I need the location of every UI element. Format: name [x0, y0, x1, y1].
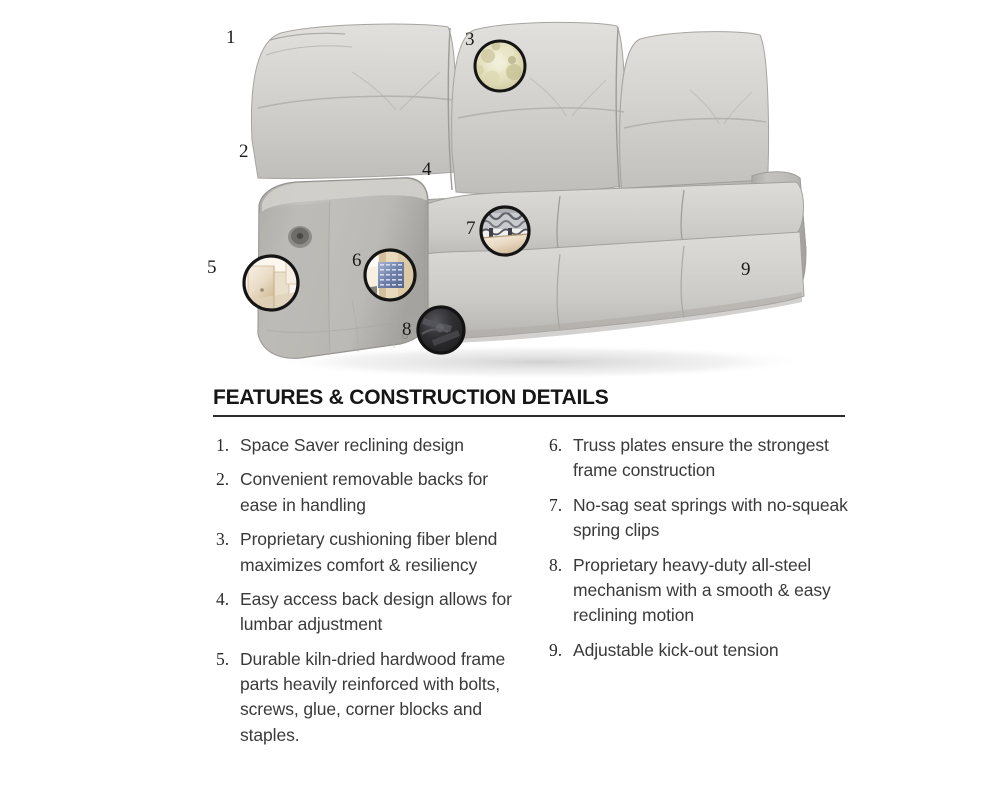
callout-inset-seat-springs [481, 207, 531, 255]
feature-item-5: 5. Durable kiln-dried hardwood frame par… [213, 647, 520, 749]
callout-inset-truss-plate [365, 250, 415, 300]
feature-text: Adjustable kick-out tension [573, 638, 778, 663]
callout-label-2: 2 [239, 142, 249, 161]
feature-text: Space Saver reclining design [240, 433, 464, 458]
callout-label-6: 6 [352, 251, 362, 270]
feature-column-right: 6. Truss plates ensure the strongest fra… [546, 433, 849, 757]
feature-number: 2. [213, 467, 240, 492]
feature-number: 9. [546, 638, 573, 663]
feature-number: 8. [546, 553, 573, 578]
feature-text: No-sag seat springs with no-squeak sprin… [573, 493, 849, 544]
feature-columns: 1. Space Saver reclining design 2. Conve… [213, 433, 853, 757]
callout-label-4: 4 [422, 160, 432, 179]
callout-inset-steel-mechanism [418, 307, 464, 353]
feature-text: Proprietary heavy-duty all-steel mechani… [573, 553, 849, 629]
product-feature-sheet: 1 2 3 4 5 6 7 8 9 FEATURES & CONSTRUCTIO… [0, 0, 1000, 800]
callout-label-9: 9 [741, 260, 751, 279]
callout-inset-hardwood-frame [244, 256, 299, 310]
recline-button-icon[interactable] [288, 226, 312, 248]
feature-number: 1. [213, 433, 240, 458]
sofa-illustration: 1 2 3 4 5 6 7 8 9 [0, 0, 1000, 390]
callout-label-5: 5 [207, 258, 217, 277]
feature-item-4: 4. Easy access back design allows for lu… [213, 587, 520, 638]
feature-item-2: 2. Convenient removable backs for ease i… [213, 467, 520, 518]
feature-column-left: 1. Space Saver reclining design 2. Conve… [213, 433, 520, 757]
section-heading: FEATURES & CONSTRUCTION DETAILS [213, 386, 845, 417]
feature-item-9: 9. Adjustable kick-out tension [546, 638, 849, 663]
callout-label-3: 3 [465, 30, 475, 49]
feature-text: Truss plates ensure the strongest frame … [573, 433, 849, 484]
callout-label-8: 8 [402, 320, 412, 339]
feature-item-7: 7. No-sag seat springs with no-squeak sp… [546, 493, 849, 544]
features-construction-details: FEATURES & CONSTRUCTION DETAILS 1. Space… [213, 386, 853, 757]
sofa-vector-graphic [0, 0, 1000, 390]
feature-number: 6. [546, 433, 573, 458]
sofa-body [407, 172, 806, 343]
feature-item-8: 8. Proprietary heavy-duty all-steel mech… [546, 553, 849, 629]
feature-number: 4. [213, 587, 240, 612]
feature-text: Durable kiln-dried hardwood frame parts … [240, 647, 520, 749]
callout-inset-fiber-fill [474, 41, 525, 91]
feature-item-3: 3. Proprietary cushioning fiber blend ma… [213, 527, 520, 578]
feature-item-6: 6. Truss plates ensure the strongest fra… [546, 433, 849, 484]
callout-label-1: 1 [226, 28, 236, 47]
feature-number: 7. [546, 493, 573, 518]
callout-label-7: 7 [466, 219, 476, 238]
feature-text: Easy access back design allows for lumba… [240, 587, 520, 638]
feature-text: Convenient removable backs for ease in h… [240, 467, 520, 518]
feature-number: 5. [213, 647, 240, 672]
feature-text: Proprietary cushioning fiber blend maxim… [240, 527, 520, 578]
feature-item-1: 1. Space Saver reclining design [213, 433, 520, 458]
feature-number: 3. [213, 527, 240, 552]
